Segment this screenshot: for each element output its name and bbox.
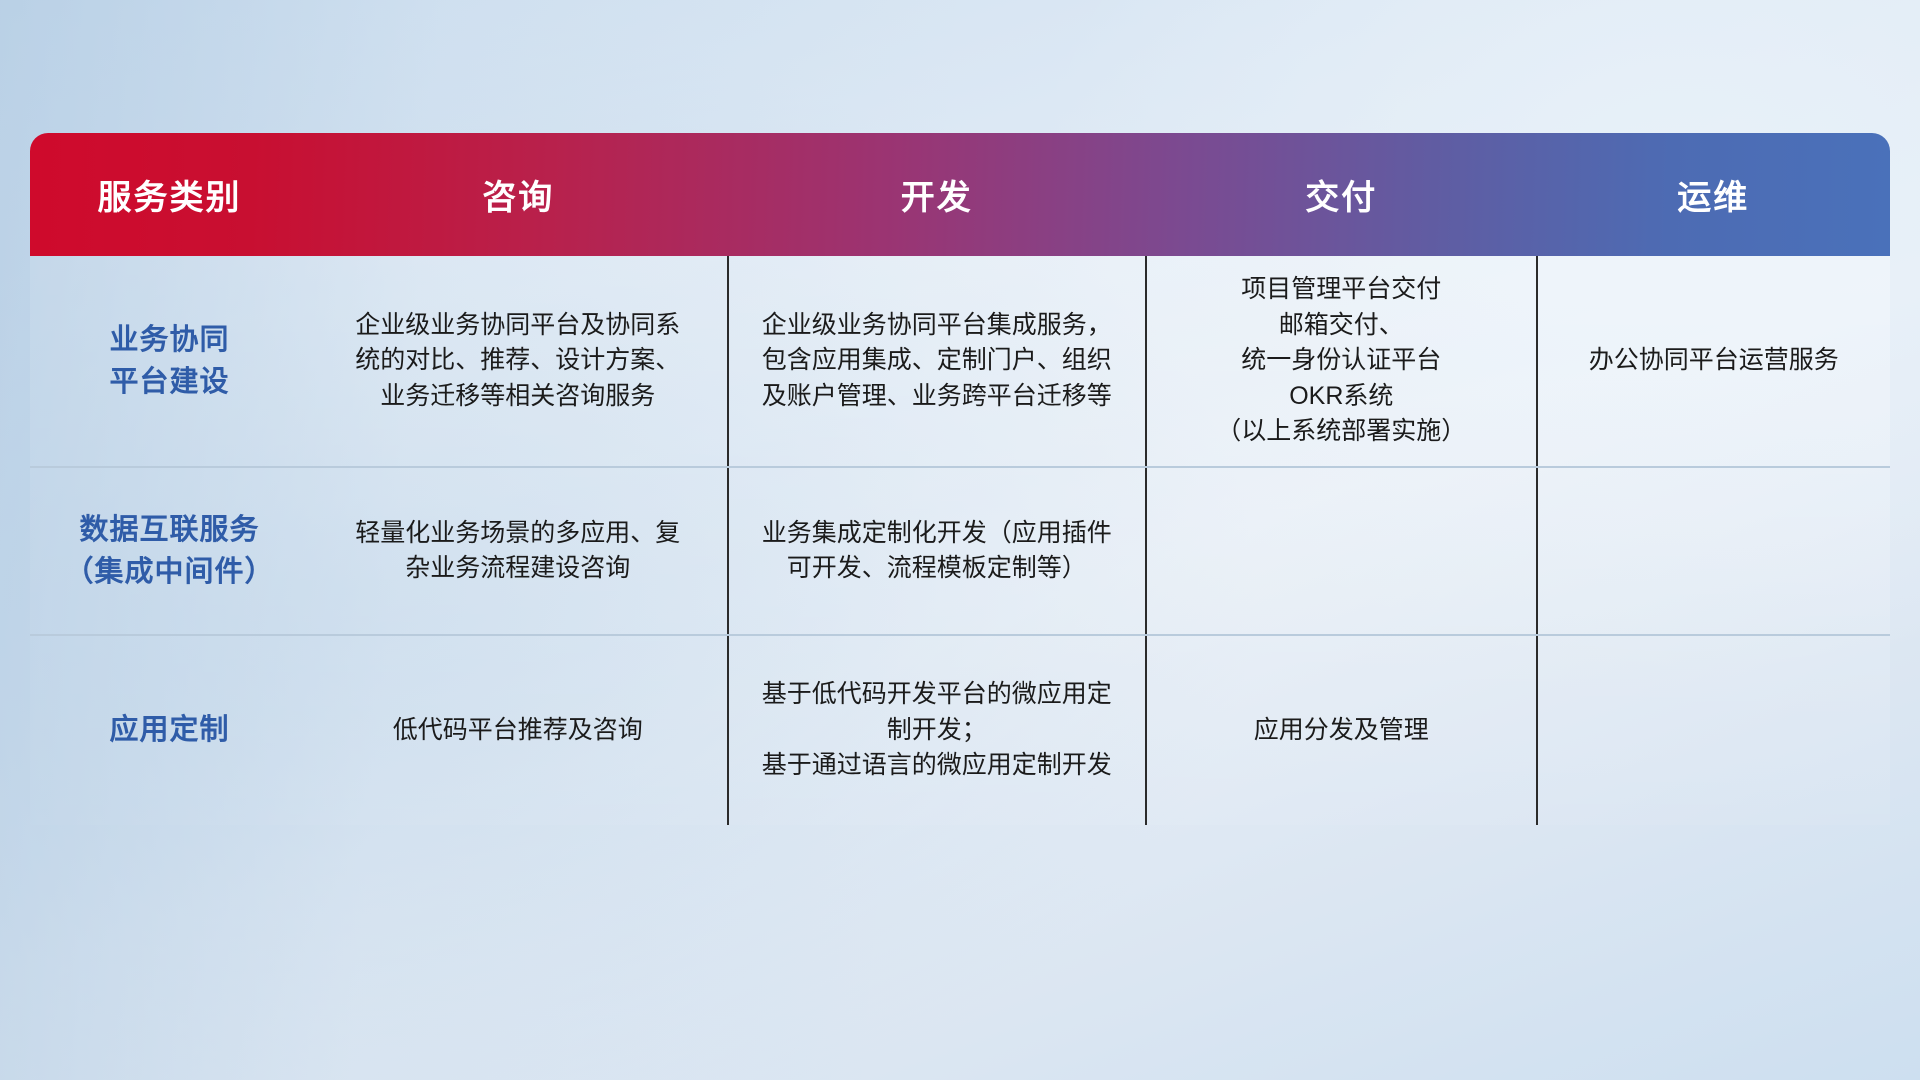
table-row: 业务协同 平台建设 企业级业务协同平台及协同系 统的对比、推荐、设计方案、 业务… — [30, 256, 1890, 467]
cell-consulting: 轻量化业务场景的多应用、复 杂业务流程建设咨询 — [309, 467, 728, 635]
cell-operations — [1537, 635, 1890, 825]
service-matrix-table-wrapper: 服务类别 咨询 开发 交付 运维 — [30, 133, 1890, 825]
cell-development: 企业级业务协同平台集成服务， 包含应用集成、定制门户、组织 及账户管理、业务跨平… — [728, 256, 1147, 467]
cell-consulting: 企业级业务协同平台及协同系 统的对比、推荐、设计方案、 业务迁移等相关咨询服务 — [309, 256, 728, 467]
column-header-consulting: 咨询 — [309, 133, 728, 256]
cell-delivery: 项目管理平台交付 邮箱交付、 统一身份认证平台 OKR系统 （以上系统部署实施） — [1146, 256, 1537, 467]
column-header-category: 服务类别 — [30, 133, 309, 256]
table-row: 数据互联服务 （集成中间件） 轻量化业务场景的多应用、复 杂业务流程建设咨询 业… — [30, 467, 1890, 635]
column-header-category-label: 服务类别 — [98, 179, 242, 217]
table-body: 业务协同 平台建设 企业级业务协同平台及协同系 统的对比、推荐、设计方案、 业务… — [30, 256, 1890, 825]
table-row: 应用定制 低代码平台推荐及咨询 基于低代码开发平台的微应用定 制开发； 基于通过… — [30, 635, 1890, 825]
cell-operations: 办公协同平台运营服务 — [1537, 256, 1890, 467]
row-category-label: 业务协同 平台建设 — [30, 256, 309, 467]
column-header-delivery: 交付 — [1146, 133, 1537, 256]
table-header: 服务类别 咨询 开发 交付 运维 — [30, 133, 1890, 256]
row-category-label: 应用定制 — [30, 635, 309, 825]
column-header-operations: 运维 — [1537, 133, 1890, 256]
column-header-development-label: 开发 — [901, 179, 973, 217]
slide-canvas: 服务类别 咨询 开发 交付 运维 — [0, 0, 1920, 1080]
column-header-operations-label: 运维 — [1677, 179, 1749, 217]
column-header-development: 开发 — [728, 133, 1147, 256]
cell-development: 业务集成定制化开发（应用插件 可开发、流程模板定制等） — [728, 467, 1147, 635]
cell-delivery — [1146, 467, 1537, 635]
header-row: 服务类别 咨询 开发 交付 运维 — [30, 133, 1890, 256]
cell-delivery: 应用分发及管理 — [1146, 635, 1537, 825]
column-header-consulting-label: 咨询 — [482, 179, 554, 217]
cell-operations — [1537, 467, 1890, 635]
row-category-label: 数据互联服务 （集成中间件） — [30, 467, 309, 635]
column-header-delivery-label: 交付 — [1305, 179, 1377, 217]
service-matrix-table: 服务类别 咨询 开发 交付 运维 — [30, 133, 1890, 825]
cell-development: 基于低代码开发平台的微应用定 制开发； 基于通过语言的微应用定制开发 — [728, 635, 1147, 825]
cell-consulting: 低代码平台推荐及咨询 — [309, 635, 728, 825]
